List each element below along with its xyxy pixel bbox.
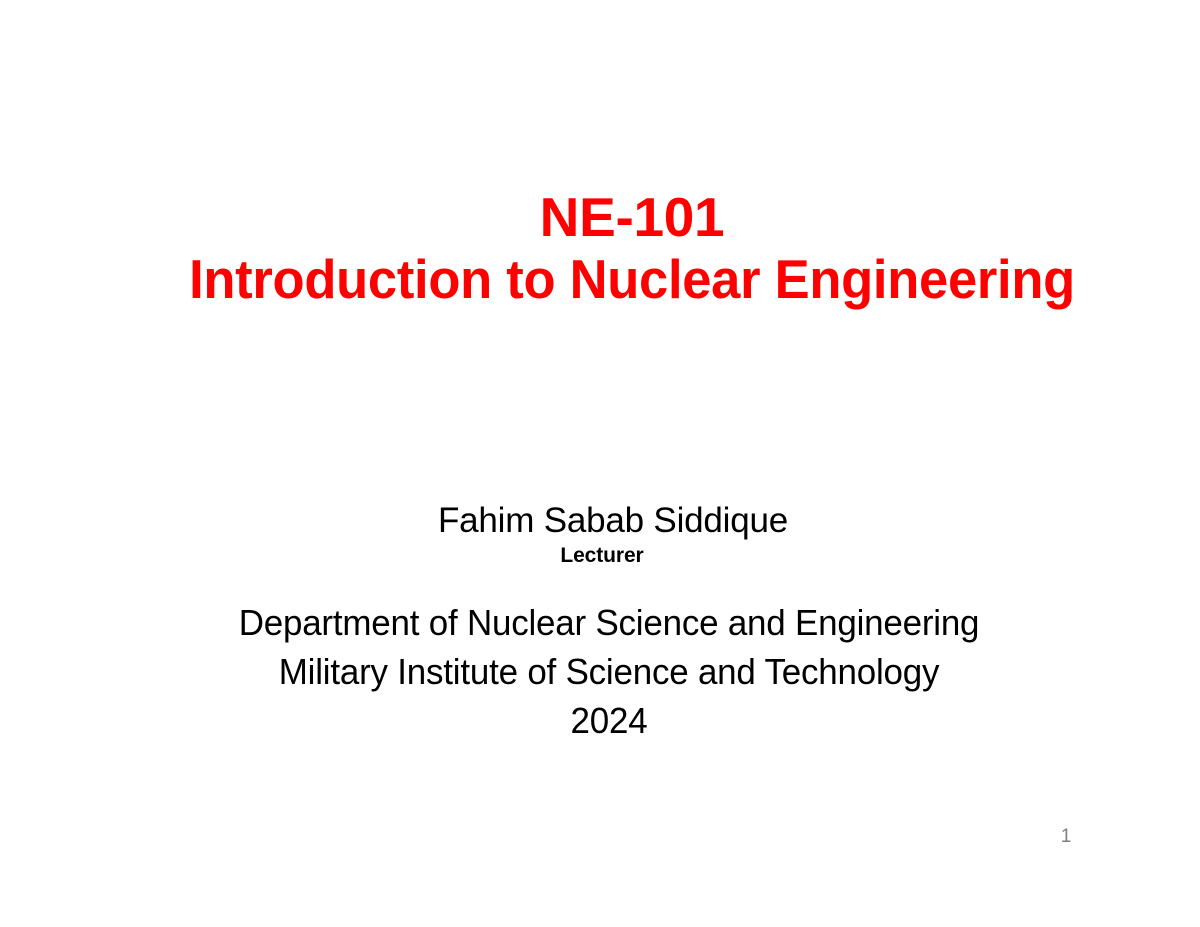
title-line-course-code: NE-101	[32, 186, 1200, 248]
affiliation-block: Department of Nuclear Science and Engine…	[0, 598, 1200, 745]
author-role: Lecturer	[2, 543, 1200, 569]
author-block: Fahim Sabab Siddique Lecturer	[0, 499, 1200, 569]
page-number: 1	[1056, 826, 1076, 848]
affiliation-institute: Military Institute of Science and Techno…	[27, 647, 1191, 696]
slide-canvas: NE-101 Introduction to Nuclear Engineeri…	[0, 0, 1200, 927]
affiliation-department: Department of Nuclear Science and Engine…	[27, 598, 1191, 647]
title-line-course-name: Introduction to Nuclear Engineering	[59, 248, 1200, 310]
affiliation-year: 2024	[27, 696, 1191, 745]
author-name: Fahim Sabab Siddique	[13, 499, 1200, 543]
slide-title: NE-101 Introduction to Nuclear Engineeri…	[0, 186, 1200, 310]
